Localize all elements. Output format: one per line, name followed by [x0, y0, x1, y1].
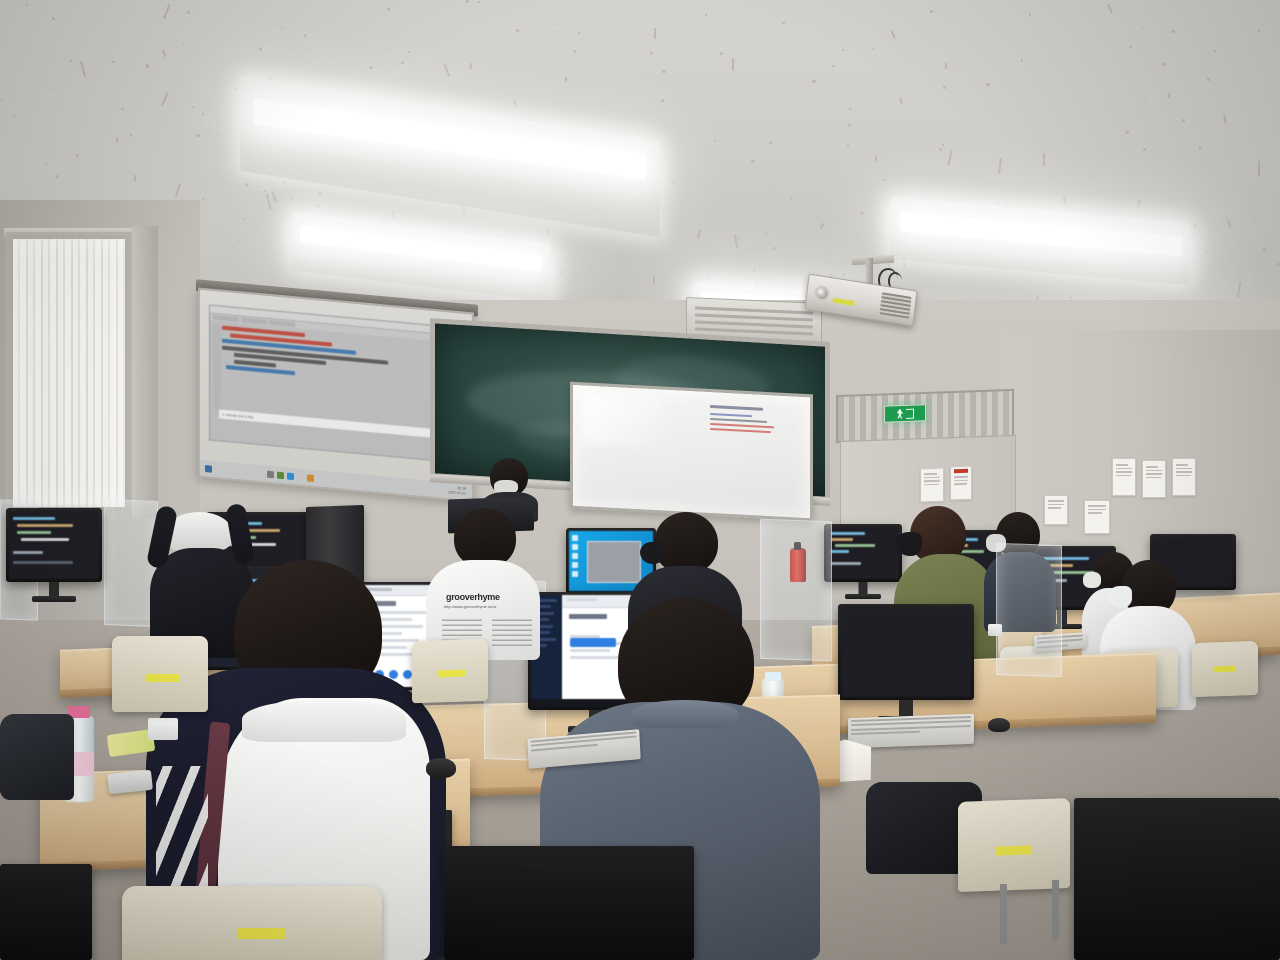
classroom-window: [6, 232, 132, 514]
chair-right-front[interactable]: [958, 798, 1070, 892]
whiteboard-note-line: [710, 413, 752, 417]
chair-foreground-left[interactable]: [122, 886, 382, 960]
mouse-center-right[interactable]: [988, 718, 1010, 732]
wall-notice-center-2: [1084, 500, 1110, 534]
shirt-text-block-right: [492, 616, 532, 646]
chair-mid-center[interactable]: [412, 639, 488, 704]
taskbar-clock: 10:18: [457, 486, 466, 491]
face-mask: [1108, 586, 1132, 608]
monitor-center-right-back[interactable]: [838, 604, 974, 700]
monitor-far-left[interactable]: [6, 508, 102, 582]
monitor-foreground-left-back[interactable]: [444, 846, 694, 960]
chair-label: [1214, 666, 1236, 673]
head: [454, 508, 516, 568]
whiteboard-heading: [710, 405, 763, 411]
chair-label: [996, 845, 1032, 855]
mouse-center-front[interactable]: [426, 758, 456, 778]
whiteboard-notes: [710, 405, 802, 438]
whiteboard-note-line: [710, 418, 767, 423]
chair-label: [438, 669, 466, 677]
whiteboard-note-line: [710, 428, 771, 433]
whiteboard: [570, 382, 813, 522]
monitor-right-dark-1[interactable]: [824, 524, 902, 582]
chair-leg: [1000, 884, 1007, 944]
keyboard-center-right[interactable]: [848, 714, 974, 748]
window-blinds[interactable]: [13, 239, 125, 507]
wall-notice-right-2: [1142, 460, 1166, 498]
jacket-collar: [242, 700, 406, 742]
shirt-brand-text: grooverhyme: [446, 592, 500, 602]
ide-status-bar: 1 minute (or 0.4s): [219, 409, 443, 438]
taskbar-icon[interactable]: [297, 473, 304, 481]
classroom-photo: 1 minute (or 0.4s) 10:18 2022-07-21: [0, 0, 1280, 960]
wall-notice-right-1: [1112, 458, 1136, 496]
projected-ide-window: 1 minute (or 0.4s): [209, 304, 458, 463]
face-mask: [640, 542, 664, 564]
taskbar-start-icon[interactable]: [205, 465, 212, 473]
projector-sticker: [832, 298, 854, 306]
exit-door-icon: [906, 408, 914, 418]
taskbar-icon[interactable]: [267, 470, 274, 478]
shirt-collar: [632, 700, 738, 728]
chair-leg: [1052, 880, 1059, 940]
shirt-url-text: http://www.grooverhyme.co.kr: [444, 604, 497, 609]
backpack: [0, 714, 74, 800]
chair-label: [146, 674, 180, 682]
taskbar-icon[interactable]: [287, 472, 294, 480]
wall-notice-left: [920, 468, 944, 503]
head: [654, 512, 718, 574]
projector-lens: [814, 285, 831, 302]
chair-right-3[interactable]: [1192, 641, 1258, 697]
running-man-icon: [897, 409, 904, 419]
face-mask: [1083, 572, 1101, 588]
monitor-foreground-right-back[interactable]: [1074, 798, 1280, 960]
partition-mid-right-2: [996, 543, 1062, 677]
chair-mid-left[interactable]: [112, 636, 208, 712]
ide-gutter: [213, 325, 221, 411]
taskbar-icon[interactable]: [307, 474, 314, 482]
whiteboard-glare: [582, 393, 663, 448]
taskbar-date: 2022-07-21: [448, 490, 466, 496]
projector-vent: [879, 292, 911, 319]
code-line: [226, 365, 295, 375]
chair-label: [238, 928, 286, 939]
window-pillar: [132, 226, 158, 518]
taskbar-icon[interactable]: [277, 471, 284, 479]
exit-sign: [884, 404, 926, 422]
wall-notice-red: [950, 466, 972, 501]
wall-notice-right-3: [1172, 458, 1196, 496]
tissue-box: [148, 718, 178, 740]
monitor-foreground-far-left[interactable]: [0, 864, 92, 960]
face-mask: [896, 532, 922, 556]
